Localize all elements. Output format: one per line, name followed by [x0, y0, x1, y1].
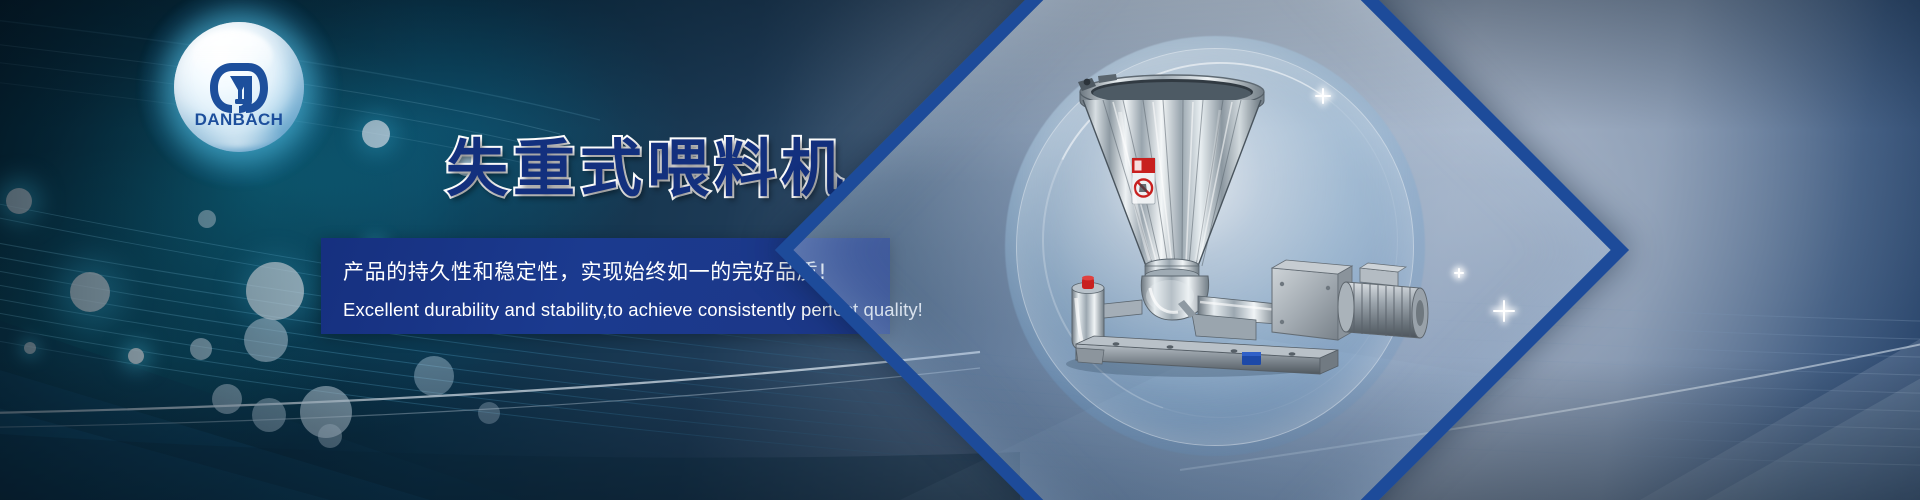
tagline-english: Excellent durability and stability,to ac… — [343, 299, 890, 321]
page-title: 失重式喂料机 — [446, 118, 848, 208]
product-image-feeder — [1020, 52, 1440, 382]
danbach-circular-emblem-icon — [208, 60, 270, 116]
product-banner: DANBACH 失重式喂料机 产品的持久性和稳定性，实现始终如一的完好品质! E… — [0, 0, 1920, 500]
brand-logo[interactable]: DANBACH — [174, 22, 304, 152]
brand-name: DANBACH — [174, 110, 304, 130]
